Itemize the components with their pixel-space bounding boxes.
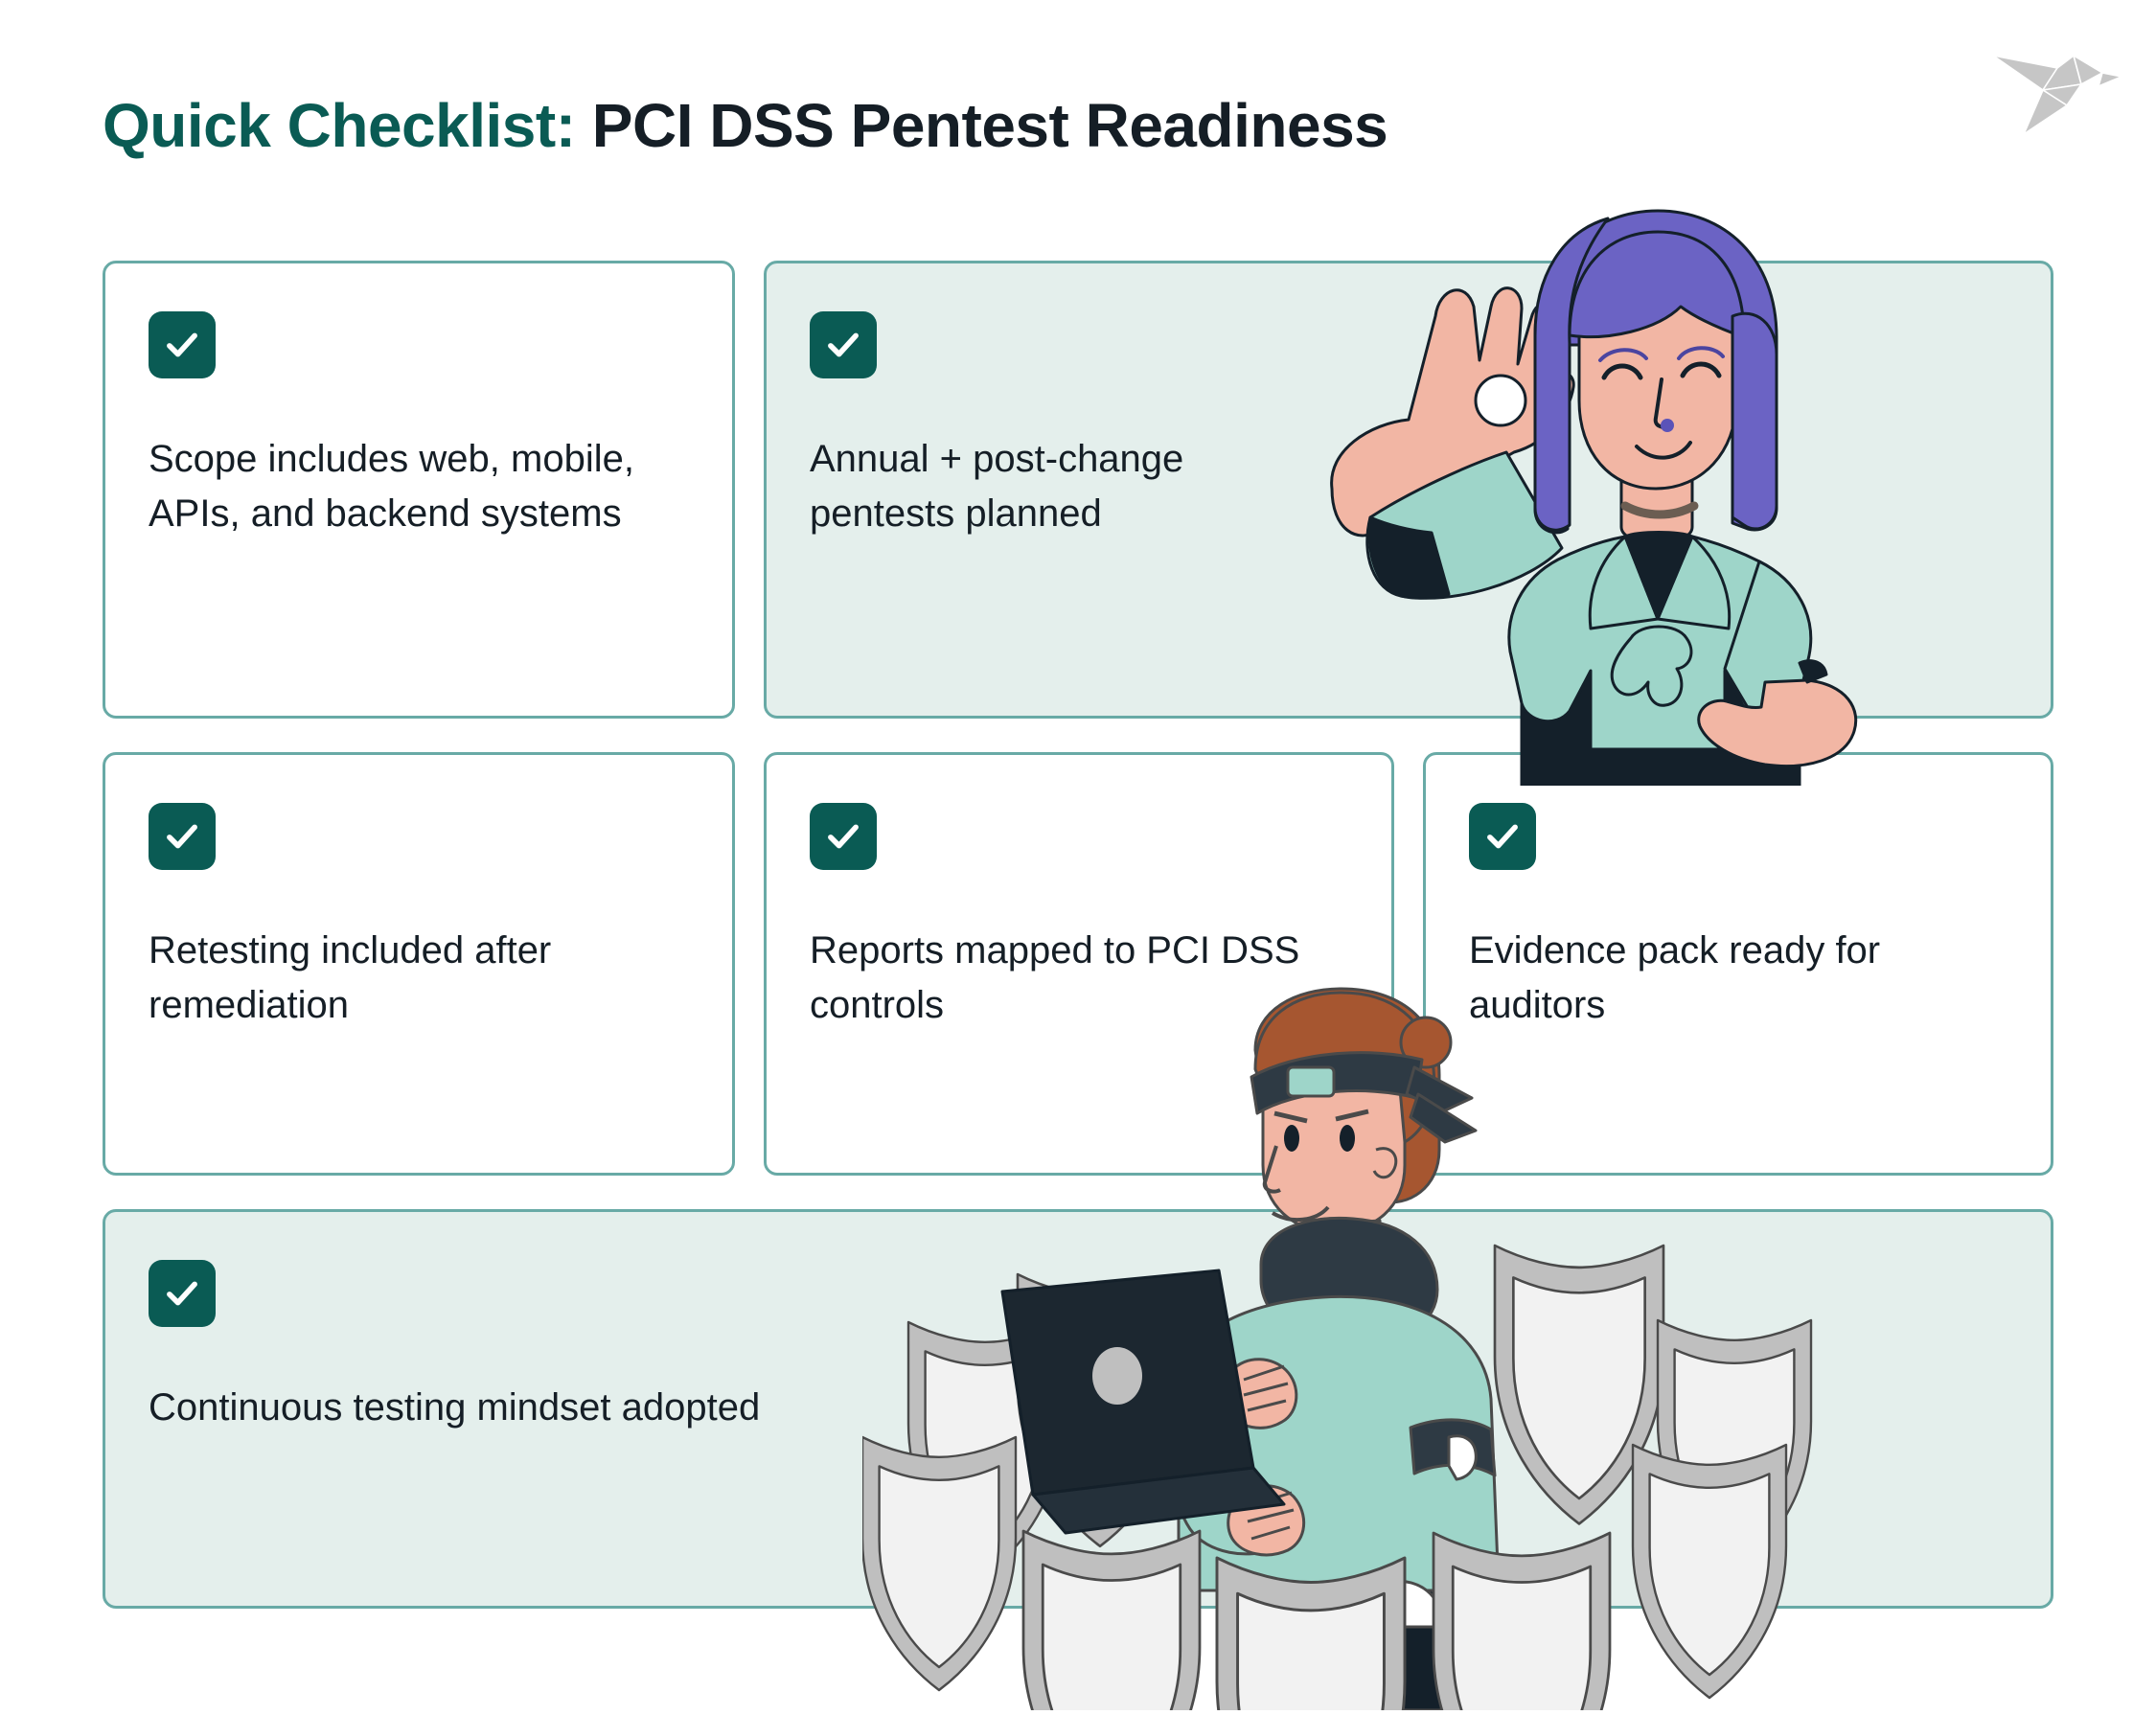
page-title-lead: Quick Checklist: xyxy=(103,91,576,160)
checklist-card-label: Reports mapped to PCI DSS controls xyxy=(810,924,1348,1033)
checkmark-icon xyxy=(149,803,216,870)
checklist-card-evidence-pack[interactable]: Evidence pack ready for auditors xyxy=(1423,752,2053,1176)
checklist-card-label: Scope includes web, mobile, APIs, and ba… xyxy=(149,432,689,541)
checklist-card-reports-mapped[interactable]: Reports mapped to PCI DSS controls xyxy=(764,752,1394,1176)
checklist-card-label: Retesting included after remediation xyxy=(149,924,689,1033)
page-title: Quick Checklist: PCI DSS Pentest Readine… xyxy=(103,92,1388,159)
checklist-card-label: Annual + post-change pentests planned xyxy=(810,432,1212,541)
checklist-card-scope[interactable]: Scope includes web, mobile, APIs, and ba… xyxy=(103,261,735,719)
origami-bird-logo xyxy=(1985,27,2129,142)
checkmark-icon xyxy=(1469,803,1536,870)
checkmark-icon xyxy=(149,1260,216,1327)
page-title-rest: PCI DSS Pentest Readiness xyxy=(576,91,1388,160)
checkmark-icon xyxy=(149,311,216,378)
checklist-card-retesting[interactable]: Retesting included after remediation xyxy=(103,752,735,1176)
checklist-card-continuous-testing[interactable]: Continuous testing mindset adopted xyxy=(103,1209,2053,1609)
checklist-card-label: Evidence pack ready for auditors xyxy=(1469,924,2007,1033)
checkmark-icon xyxy=(810,803,877,870)
checklist-card-pentest-cadence[interactable]: Annual + post-change pentests planned xyxy=(764,261,2053,719)
checkmark-icon xyxy=(810,311,877,378)
checklist-card-label: Continuous testing mindset adopted xyxy=(149,1381,800,1435)
